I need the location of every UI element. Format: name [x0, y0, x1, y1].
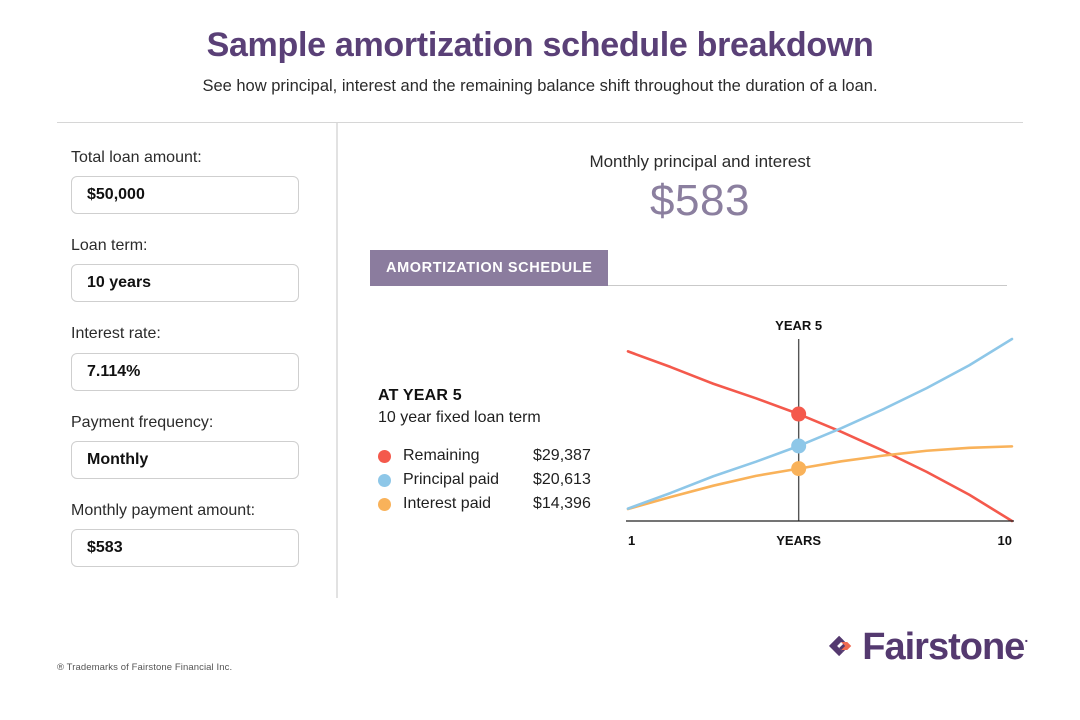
fairstone-wordmark-text: Fairstone: [862, 626, 1024, 668]
legend-label-remaining: Remaining: [403, 447, 533, 465]
loan-input-panel: Total loan amount: $50,000 Loan term: 10…: [71, 148, 307, 567]
legend-item-remaining: Remaining $29,387: [378, 444, 618, 468]
chart-marker-dot-principal-paid: [791, 438, 806, 453]
input-interest-rate[interactable]: 7.114%: [71, 353, 299, 391]
chart-marker-label: YEAR 5: [775, 318, 822, 333]
field-group-interest-rate: Interest rate: 7.114%: [71, 324, 307, 390]
trademark-note: ® Trademarks of Fairstone Financial Inc.: [57, 662, 232, 673]
input-monthly-payment-amount[interactable]: $583: [71, 529, 299, 567]
header-divider: [57, 122, 1023, 123]
monthly-principal-interest-value: $583: [370, 172, 1030, 227]
legend-dot-interest-paid-icon: [378, 498, 391, 511]
input-loan-term[interactable]: 10 years: [71, 264, 299, 302]
fairstone-wordmark: Fairstone·: [862, 628, 1028, 666]
legend-heading: AT YEAR 5: [378, 385, 618, 407]
chart-plot: YEAR 5 1 YEARS 10: [620, 305, 1020, 585]
field-group-monthly-payment-amount: Monthly payment amount: $583: [71, 501, 307, 567]
label-payment-frequency: Payment frequency:: [71, 413, 307, 432]
legend-value-principal-paid: $20,613: [533, 471, 591, 489]
label-total-loan-amount: Total loan amount:: [71, 148, 307, 167]
legend-dot-remaining-icon: [378, 450, 391, 463]
legend-value-interest-paid: $14,396: [533, 495, 591, 513]
legend-item-principal-paid: Principal paid $20,613: [378, 468, 618, 492]
chart-legend: AT YEAR 5 10 year fixed loan term Remain…: [378, 385, 618, 516]
field-group-payment-frequency: Payment frequency: Monthly: [71, 413, 307, 479]
legend-dot-principal-paid-icon: [378, 474, 391, 487]
chart-line-interest-paid: [628, 446, 1012, 509]
label-loan-term: Loan term:: [71, 236, 307, 255]
input-payment-frequency[interactable]: Monthly: [71, 441, 299, 479]
field-group-loan-term: Loan term: 10 years: [71, 236, 307, 302]
page-header: Sample amortization schedule breakdown S…: [0, 0, 1080, 97]
tab-amortization-schedule[interactable]: AMORTIZATION SCHEDULE: [370, 250, 608, 286]
page-subtitle: See how principal, interest and the rema…: [0, 65, 1080, 97]
label-interest-rate: Interest rate:: [71, 324, 307, 343]
chart-xtick-max: 10: [998, 533, 1012, 548]
amortization-chart: AT YEAR 5 10 year fixed loan term Remain…: [370, 305, 1030, 585]
fairstone-mark-icon: [828, 623, 854, 671]
chart-xtick-min: 1: [628, 533, 635, 548]
tab-strip: AMORTIZATION SCHEDULE: [370, 250, 1030, 286]
column-divider: [336, 123, 338, 598]
input-total-loan-amount[interactable]: $50,000: [71, 176, 299, 214]
page-title: Sample amortization schedule breakdown: [0, 0, 1080, 65]
chart-marker-dot-interest-paid: [791, 461, 806, 476]
legend-item-interest-paid: Interest paid $14,396: [378, 492, 618, 516]
legend-label-interest-paid: Interest paid: [403, 495, 533, 513]
chart-x-axis-label: YEARS: [776, 533, 821, 548]
legend-label-principal-paid: Principal paid: [403, 471, 533, 489]
legend-value-remaining: $29,387: [533, 447, 591, 465]
legend-subheading: 10 year fixed loan term: [378, 407, 618, 429]
label-monthly-payment-amount: Monthly payment amount:: [71, 501, 307, 520]
field-group-total-loan-amount: Total loan amount: $50,000: [71, 148, 307, 214]
results-panel: Monthly principal and interest $583 AMOR…: [370, 140, 1030, 600]
fairstone-logo: Fairstone·: [828, 618, 1028, 676]
fairstone-registered-mark: ·: [1024, 632, 1028, 648]
monthly-principal-interest-label: Monthly principal and interest: [370, 140, 1030, 172]
chart-marker-dot-remaining: [791, 407, 806, 422]
